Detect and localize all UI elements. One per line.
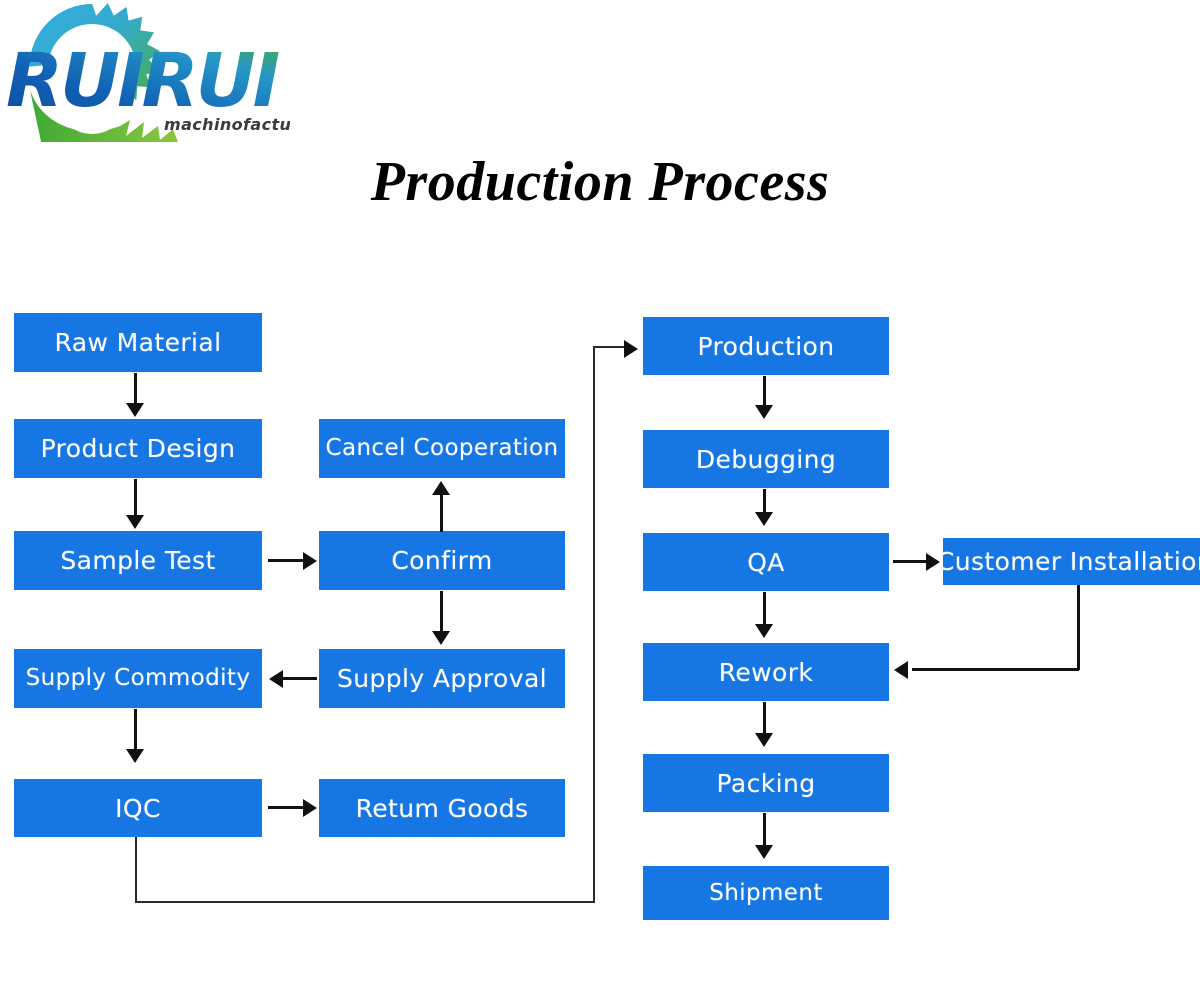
arrowhead-iqc-to-return-goods [303, 799, 317, 817]
node-cancel-cooperation[interactable]: Cancel Cooperation [319, 419, 565, 478]
edge-product-design-to-sample-test [134, 479, 137, 517]
logo-graphic: RUIRUI machinofacture [0, 2, 290, 142]
edge-sample-test-to-confirm [268, 559, 306, 562]
page-title: Production Process [0, 150, 1200, 214]
node-production[interactable]: Production [643, 317, 889, 375]
edge-iqc-to-return-goods [268, 806, 306, 809]
arrowhead-shipment-to-customer-installation [755, 845, 773, 859]
edge-qa-to-packing [763, 592, 766, 626]
edge-rework-to-packing-segment-left [912, 668, 1079, 671]
node-product-design[interactable]: Product Design [14, 419, 262, 478]
company-logo: RUIRUI machinofacture [0, 2, 290, 142]
edge-iqc-to-production-segment-up [593, 346, 595, 903]
arrowhead-packing-to-shipment [755, 733, 773, 747]
arrowhead-qa-to-rework [926, 553, 940, 571]
edge-production-to-debugging [763, 376, 766, 408]
node-sample-test[interactable]: Sample Test [14, 531, 262, 590]
edge-supply-commodity-to-iqc [134, 709, 137, 751]
edge-iqc-to-production-segment-right [135, 901, 595, 903]
node-qa[interactable]: QA [643, 533, 889, 591]
arrowhead-sample-test-to-confirm [303, 552, 317, 570]
node-iqc[interactable]: IQC [14, 779, 262, 837]
edge-confirm-to-cancel-cooperation [440, 494, 443, 532]
edge-confirm-to-supply-approval [440, 591, 443, 633]
arrowhead-debugging-to-qa [755, 512, 773, 526]
arrowhead-supply-approval-to-supply-commodity [269, 670, 283, 688]
edge-iqc-to-production-segment-final [593, 346, 627, 348]
node-raw-material[interactable]: Raw Material [14, 313, 262, 372]
arrowhead-rework-to-packing [894, 661, 908, 679]
arrowhead-confirm-to-cancel-cooperation [432, 481, 450, 495]
logo-tagline: machinofacture [164, 115, 290, 134]
flowchart-page: RUIRUI machinofacture Production Process… [0, 0, 1200, 1000]
arrowhead-confirm-to-supply-approval [432, 631, 450, 645]
node-packing[interactable]: Rework [643, 643, 889, 701]
edge-raw-material-to-product-design [134, 373, 137, 405]
edge-packing-to-shipment [763, 702, 766, 736]
node-shipment[interactable]: Packing [643, 754, 889, 812]
edge-iqc-to-production-segment-down [135, 837, 137, 903]
arrowhead-supply-commodity-to-iqc [126, 749, 144, 763]
node-supply-approval[interactable]: Supply Approval [319, 649, 565, 708]
edge-qa-to-rework [893, 560, 929, 563]
arrowhead-product-design-to-sample-test [126, 515, 144, 529]
arrowhead-qa-to-packing [755, 624, 773, 638]
node-confirm[interactable]: Confirm [319, 531, 565, 590]
logo-wordmark: RUIRUI [6, 38, 279, 124]
node-customer-installation[interactable]: Shipment [643, 866, 889, 920]
edge-supply-approval-to-supply-commodity [283, 677, 317, 680]
edge-shipment-to-customer-installation [763, 813, 766, 847]
node-supply-commodity[interactable]: Supply Commodity [14, 649, 262, 708]
edge-rework-to-packing-segment-down [1077, 585, 1080, 670]
arrowhead-production-to-debugging [755, 405, 773, 419]
node-debugging[interactable]: Debugging [643, 430, 889, 488]
node-return-goods[interactable]: Retum Goods [319, 779, 565, 837]
arrowhead-raw-material-to-product-design [126, 403, 144, 417]
node-rework[interactable]: Customer Installation [943, 538, 1200, 585]
arrowhead-iqc-to-production [624, 340, 638, 358]
